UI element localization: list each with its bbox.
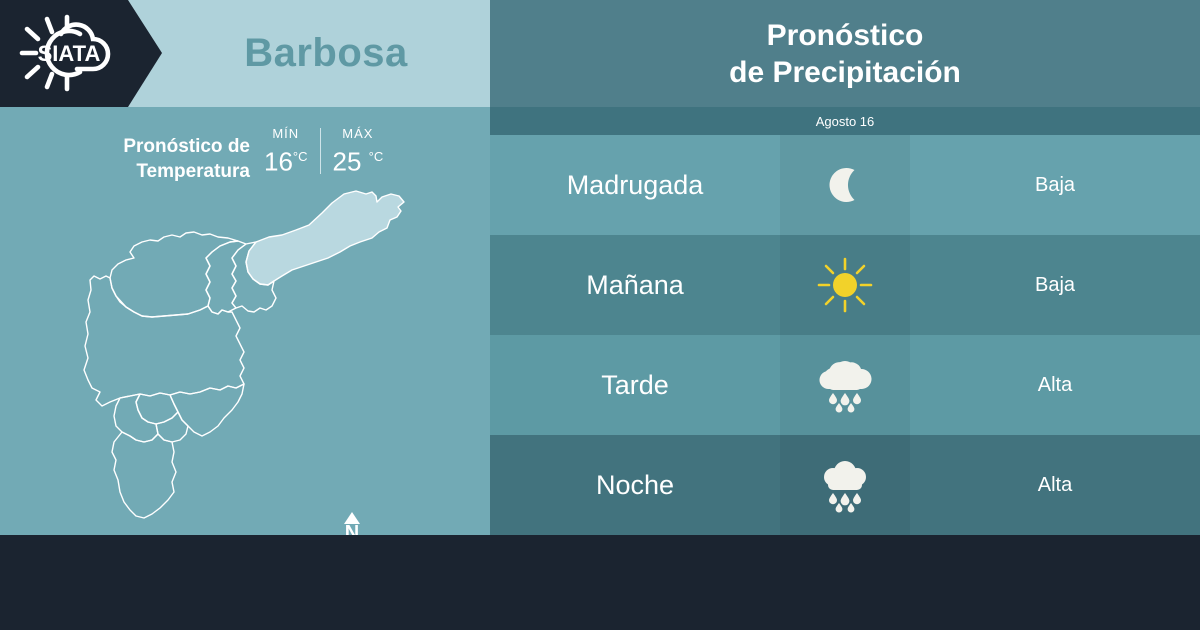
precipitation-title: Pronóstico de Precipitación — [729, 17, 961, 91]
city-name: Barbosa — [162, 0, 490, 107]
map-region-envigado — [170, 384, 244, 436]
table-row: Noche Alta — [490, 435, 1200, 535]
forecast-icon-cell — [780, 335, 910, 435]
forecast-rows: Madrugada Baja Mañana — [490, 135, 1200, 535]
temperature-min-label: MÍN — [272, 126, 299, 142]
forecast-period: Noche — [490, 435, 780, 535]
map-svg — [60, 180, 440, 530]
temperature-title-line2: Temperatura — [136, 161, 250, 182]
sun-cloud-icon: SIATA — [14, 12, 134, 94]
min-unit: °C — [293, 149, 308, 164]
map-region-barbosa — [246, 191, 404, 285]
forecast-period: Mañana — [490, 235, 780, 335]
precipitation-level: Alta — [910, 335, 1200, 435]
logo-wordmark: SIATA — [38, 41, 101, 66]
siata-logo-badge: SIATA — [0, 0, 162, 107]
precipitation-title-line1: Pronóstico — [767, 19, 924, 52]
forecast-icon-cell — [780, 235, 910, 335]
temperature-title-line1: Pronóstico de — [123, 136, 250, 157]
temperature-min-value: 16°C — [264, 142, 308, 177]
temperature-title: Pronóstico de Temperatura — [60, 122, 250, 184]
map-region-medellin — [84, 276, 244, 406]
forecast-date: Agosto 16 — [816, 114, 875, 129]
precipitation-level: Baja — [910, 235, 1200, 335]
table-row: Tarde — [490, 335, 1200, 435]
temperature-min: MÍN 16°C — [264, 126, 308, 177]
weather-forecast-infographic: SIATA Barbosa Pronóstico de Temperatura … — [0, 0, 1200, 630]
max-unit: °C — [369, 149, 384, 164]
temperature-max: MÁX 25 °C — [333, 126, 384, 177]
temperature-block: Pronóstico de Temperatura MÍN 16°C MÁX 2… — [60, 122, 440, 184]
temperature-max-value: 25 °C — [333, 142, 384, 177]
precipitation-header: Pronóstico de Precipitación — [490, 0, 1200, 107]
rain-icon — [814, 455, 876, 515]
table-row: Madrugada Baja — [490, 135, 1200, 235]
table-row: Mañana — [490, 235, 1200, 335]
precipitation-title-line2: de Precipitación — [729, 56, 961, 89]
map-region-caldas — [112, 432, 176, 518]
max-number: 25 — [333, 147, 362, 177]
moon-icon — [818, 158, 872, 212]
aburra-valley-map: N — [60, 180, 440, 530]
precipitation-level: Alta — [910, 435, 1200, 535]
precipitation-level: Baja — [910, 135, 1200, 235]
temperature-max-label: MÁX — [342, 126, 373, 142]
footer: @siatamedellin www.siata.gov.co Con el a… — [0, 535, 1200, 630]
map-region-bello — [110, 232, 238, 317]
rain-icon — [814, 355, 876, 415]
forecast-date-band: Agosto 16 — [490, 107, 1200, 135]
temperature-divider — [320, 128, 321, 174]
forecast-period: Tarde — [490, 335, 780, 435]
sun-icon — [815, 255, 875, 315]
forecast-icon-cell — [780, 135, 910, 235]
forecast-period: Madrugada — [490, 135, 780, 235]
precipitation-panel: Pronóstico de Precipitación Agosto 16 Ma… — [490, 0, 1200, 535]
left-header-band: SIATA Barbosa — [0, 0, 490, 107]
temperature-values: MÍN 16°C MÁX 25 °C — [250, 122, 383, 177]
left-panel: SIATA Barbosa Pronóstico de Temperatura … — [0, 0, 490, 535]
map-region-itagui — [136, 393, 178, 424]
min-number: 16 — [264, 147, 293, 177]
forecast-icon-cell — [780, 435, 910, 535]
